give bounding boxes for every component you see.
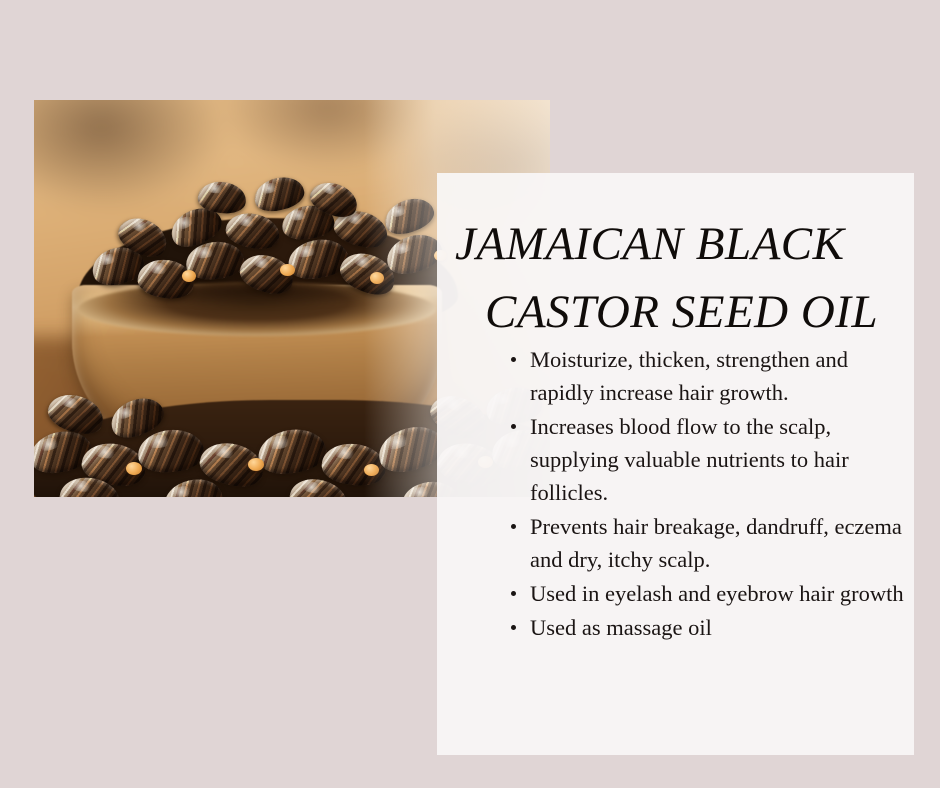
list-item-label: Moisturize, thicken, strengthen and rapi…	[530, 347, 848, 405]
title-line-2: CASTOR SEED OIL	[455, 278, 905, 346]
bullet-icon	[511, 625, 516, 630]
list-item: Moisturize, thicken, strengthen and rapi…	[511, 343, 911, 409]
product-poster: JAMAICAN BLACKCASTOR SEED OIL Moisturize…	[0, 0, 940, 788]
castor-seed	[197, 180, 248, 216]
list-item: Prevents hair breakage, dandruff, eczema…	[511, 510, 911, 576]
castor-seed	[136, 427, 205, 475]
seed-caruncle	[280, 264, 295, 276]
bullet-icon	[511, 524, 516, 529]
list-item: Used in eyelash and eyebrow hair growth	[511, 577, 911, 610]
bullet-icon	[511, 424, 516, 429]
list-item: Used as massage oil	[511, 611, 911, 644]
list-item-label: Used in eyelash and eyebrow hair growth	[530, 581, 904, 606]
list-item-label: Used as massage oil	[530, 615, 712, 640]
seed-caruncle	[126, 462, 142, 475]
page-title: JAMAICAN BLACKCASTOR SEED OIL	[455, 210, 905, 346]
text-panel: JAMAICAN BLACKCASTOR SEED OIL Moisturize…	[437, 173, 914, 755]
title-line-1: JAMAICAN BLACK	[455, 218, 845, 270]
list-item-label: Prevents hair breakage, dandruff, eczema…	[530, 514, 902, 572]
benefits-list: Moisturize, thicken, strengthen and rapi…	[511, 343, 911, 645]
bullet-icon	[511, 591, 516, 596]
seed-caruncle	[248, 458, 264, 471]
bullet-icon	[511, 357, 516, 362]
seed-caruncle	[182, 270, 196, 282]
list-item-label: Increases blood flow to the scalp, suppl…	[530, 414, 849, 505]
list-item: Increases blood flow to the scalp, suppl…	[511, 410, 911, 509]
